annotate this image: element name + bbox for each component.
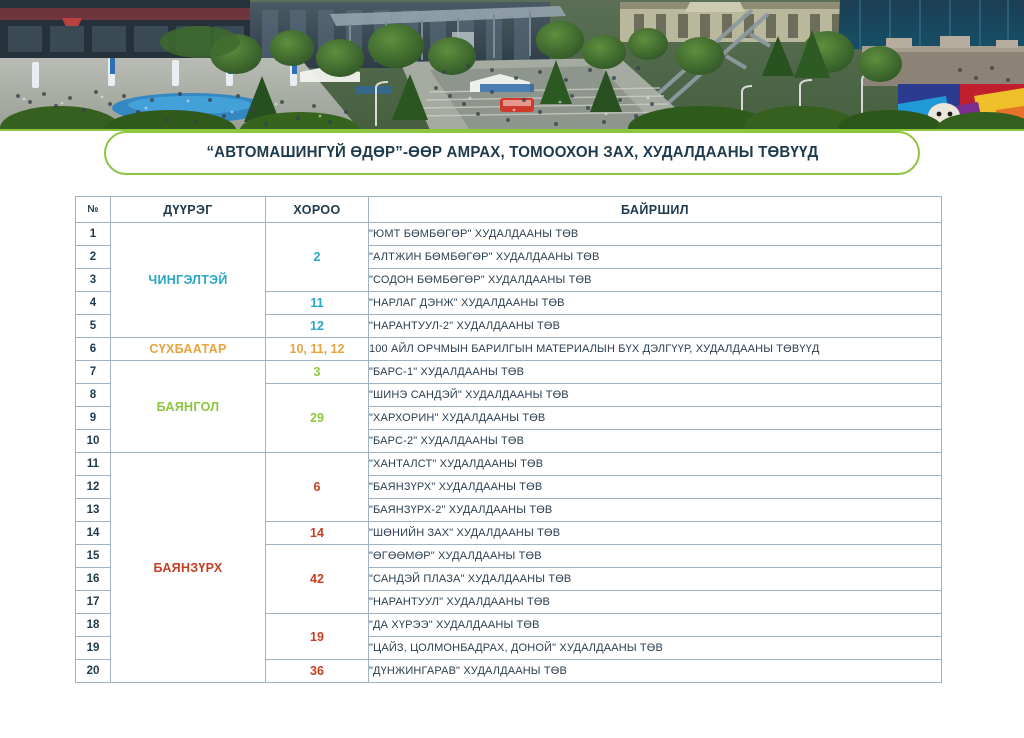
cell-location: "ӨГӨӨМӨР" ХУДАЛДААНЫ ТӨВ (369, 545, 942, 568)
aerial-city-photo (0, 0, 1024, 130)
cell-location: "НАРЛАГ ДЭНЖ" ХУДАЛДААНЫ ТӨВ (369, 292, 942, 315)
table-row: 6СҮХБААТАР10, 11, 12100 АЙЛ ОРЧМЫН БАРИЛ… (76, 338, 942, 361)
cell-location: "ДА ХҮРЭЭ" ХУДАЛДААНЫ ТӨВ (369, 614, 942, 637)
cell-location: "НАРАНТУУЛ" ХУДАЛДААНЫ ТӨВ (369, 591, 942, 614)
cell-number: 10 (76, 430, 111, 453)
table-row: 7БАЯНГОЛ3"БАРС-1" ХУДАЛДААНЫ ТӨВ (76, 361, 942, 384)
cell-location: "ХАНТАЛСТ" ХУДАЛДААНЫ ТӨВ (369, 453, 942, 476)
table-head: № ДҮҮРЭГ ХОРОО БАЙРШИЛ (76, 197, 942, 223)
col-header-number: № (76, 197, 111, 223)
cell-location: "АЛТЖИН БӨМБӨГӨР" ХУДАЛДААНЫ ТӨВ (369, 246, 942, 269)
cell-number: 14 (76, 522, 111, 545)
cell-district: СҮХБААТАР (111, 338, 266, 361)
cell-number: 4 (76, 292, 111, 315)
cell-khoroo: 2 (266, 223, 369, 292)
locations-table-container: № ДҮҮРЭГ ХОРОО БАЙРШИЛ 1ЧИНГЭЛТЭЙ2"ЮМТ Б… (75, 196, 941, 683)
cell-number: 5 (76, 315, 111, 338)
cell-khoroo: 10, 11, 12 (266, 338, 369, 361)
cell-khoroo: 36 (266, 660, 369, 683)
page-title-pill: “АВТОМАШИНГҮЙ ӨДӨР”-ӨӨР АМРАХ, ТОМООХОН … (104, 131, 920, 175)
cell-number: 11 (76, 453, 111, 476)
table-body: 1ЧИНГЭЛТЭЙ2"ЮМТ БӨМБӨГӨР" ХУДАЛДААНЫ ТӨВ… (76, 223, 942, 683)
col-header-district: ДҮҮРЭГ (111, 197, 266, 223)
cell-khoroo: 6 (266, 453, 369, 522)
cell-number: 3 (76, 269, 111, 292)
cell-district: БАЯНГОЛ (111, 361, 266, 453)
cell-number: 12 (76, 476, 111, 499)
col-header-location: БАЙРШИЛ (369, 197, 942, 223)
cell-location: "БАЯНЗҮРХ" ХУДАЛДААНЫ ТӨВ (369, 476, 942, 499)
cell-location: "БАРС-1" ХУДАЛДААНЫ ТӨВ (369, 361, 942, 384)
table-row: 1ЧИНГЭЛТЭЙ2"ЮМТ БӨМБӨГӨР" ХУДАЛДААНЫ ТӨВ (76, 223, 942, 246)
cell-location: 100 АЙЛ ОРЧМЫН БАРИЛГЫН МАТЕРИАЛЫН БҮХ Д… (369, 338, 942, 361)
page-root: “АВТОМАШИНГҮЙ ӨДӨР”-ӨӨР АМРАХ, ТОМООХОН … (0, 0, 1024, 738)
cell-location: "ЦАЙЗ, ЦОЛМОНБАДРАХ, ДОНОЙ" ХУДАЛДААНЫ Т… (369, 637, 942, 660)
cell-location: "ШӨНИЙН ЗАХ" ХУДАЛДААНЫ ТӨВ (369, 522, 942, 545)
cell-location: "НАРАНТУУЛ-2" ХУДАЛДААНЫ ТӨВ (369, 315, 942, 338)
cell-khoroo: 14 (266, 522, 369, 545)
cell-district: ЧИНГЭЛТЭЙ (111, 223, 266, 338)
cell-district: БАЯНЗҮРХ (111, 453, 266, 683)
cell-khoroo: 12 (266, 315, 369, 338)
cell-location: "БАЯНЗҮРХ-2" ХУДАЛДААНЫ ТӨВ (369, 499, 942, 522)
cell-number: 8 (76, 384, 111, 407)
header-photo-banner (0, 0, 1024, 130)
cell-location: "ДҮНЖИНГАРАВ" ХУДАЛДААНЫ ТӨВ (369, 660, 942, 683)
cell-khoroo: 29 (266, 384, 369, 453)
cell-number: 20 (76, 660, 111, 683)
cell-number: 7 (76, 361, 111, 384)
table-row: 11БАЯНЗҮРХ6"ХАНТАЛСТ" ХУДАЛДААНЫ ТӨВ (76, 453, 942, 476)
cell-location: "ХАРХОРИН" ХУДАЛДААНЫ ТӨВ (369, 407, 942, 430)
cell-number: 15 (76, 545, 111, 568)
cell-khoroo: 3 (266, 361, 369, 384)
cell-number: 6 (76, 338, 111, 361)
cell-khoroo: 42 (266, 545, 369, 614)
table-header-row: № ДҮҮРЭГ ХОРОО БАЙРШИЛ (76, 197, 942, 223)
cell-khoroo: 11 (266, 292, 369, 315)
cell-number: 18 (76, 614, 111, 637)
cell-number: 9 (76, 407, 111, 430)
page-title: “АВТОМАШИНГҮЙ ӨДӨР”-ӨӨР АМРАХ, ТОМООХОН … (206, 144, 818, 162)
cell-number: 2 (76, 246, 111, 269)
cell-location: "БАРС-2" ХУДАЛДААНЫ ТӨВ (369, 430, 942, 453)
cell-location: "СОДОН БӨМБӨГӨР" ХУДАЛДААНЫ ТӨВ (369, 269, 942, 292)
cell-location: "ЮМТ БӨМБӨГӨР" ХУДАЛДААНЫ ТӨВ (369, 223, 942, 246)
cell-khoroo: 19 (266, 614, 369, 660)
cell-number: 16 (76, 568, 111, 591)
cell-number: 13 (76, 499, 111, 522)
col-header-khoroo: ХОРОО (266, 197, 369, 223)
cell-number: 19 (76, 637, 111, 660)
locations-table: № ДҮҮРЭГ ХОРОО БАЙРШИЛ 1ЧИНГЭЛТЭЙ2"ЮМТ Б… (75, 196, 942, 683)
cell-number: 1 (76, 223, 111, 246)
cell-location: "ШИНЭ САНДЭЙ" ХУДАЛДААНЫ ТӨВ (369, 384, 942, 407)
cell-number: 17 (76, 591, 111, 614)
cell-location: "САНДЭЙ ПЛАЗА" ХУДАЛДААНЫ ТӨВ (369, 568, 942, 591)
